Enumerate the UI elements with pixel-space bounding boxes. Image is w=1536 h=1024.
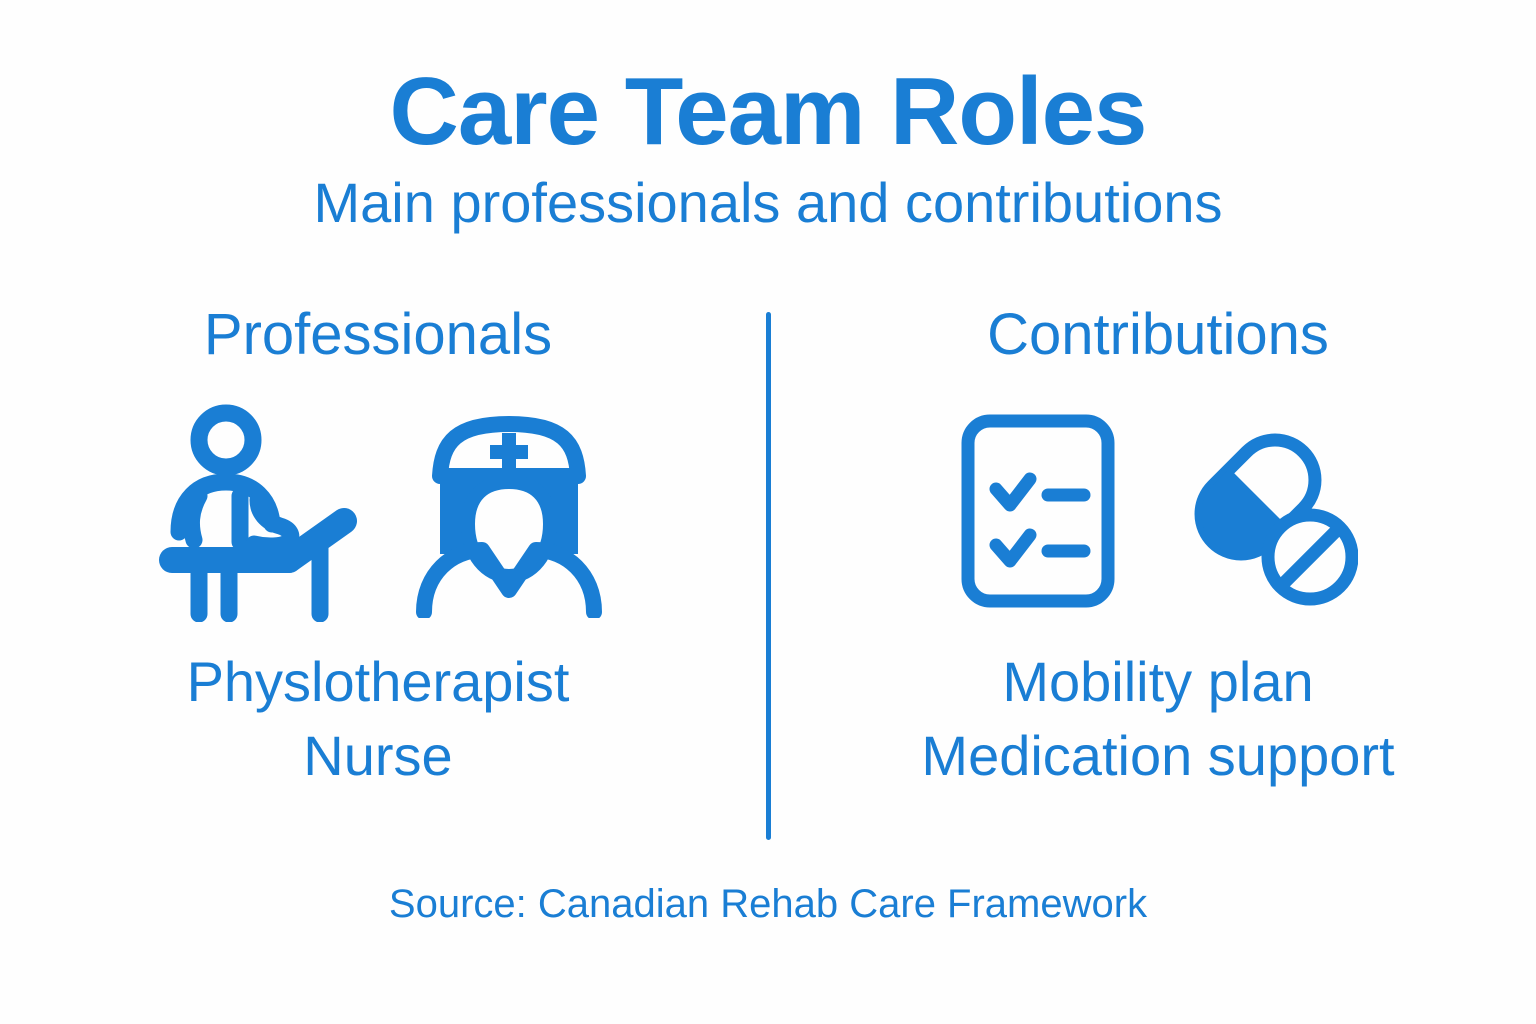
- label-contribution-1: Mobility plan: [921, 645, 1394, 719]
- label-contribution-2: Medication support: [921, 719, 1394, 793]
- poster-canvas: Care Team Roles Main professionals and c…: [0, 0, 1536, 1024]
- column-heading-contributions: Contributions: [987, 306, 1329, 364]
- label-professional-1: Physlotherapist: [187, 645, 570, 719]
- column-divider: [766, 312, 771, 840]
- labels-professionals: Physlotherapist Nurse: [187, 645, 570, 793]
- icon-row-contributions: [958, 398, 1358, 623]
- column-heading-professionals: Professionals: [204, 306, 552, 364]
- columns-container: Professionals: [0, 306, 1536, 846]
- source-note: Source: Canadian Rehab Care Framework: [0, 882, 1536, 927]
- icon-row-professionals: [154, 398, 602, 623]
- header: Care Team Roles Main professionals and c…: [0, 62, 1536, 235]
- page-subtitle: Main professionals and contributions: [0, 171, 1536, 235]
- label-professional-2: Nurse: [187, 719, 570, 793]
- patient-on-therapy-table-icon: [154, 400, 376, 622]
- labels-contributions: Mobility plan Medication support: [921, 645, 1394, 793]
- pills-icon: [1158, 413, 1358, 609]
- column-contributions: Contributions: [768, 306, 1536, 846]
- checklist-icon: [958, 411, 1118, 611]
- page-title: Care Team Roles: [0, 62, 1536, 163]
- nurse-icon: [416, 404, 602, 618]
- column-professionals: Professionals: [0, 306, 768, 846]
- footer: Source: Canadian Rehab Care Framework: [0, 882, 1536, 927]
